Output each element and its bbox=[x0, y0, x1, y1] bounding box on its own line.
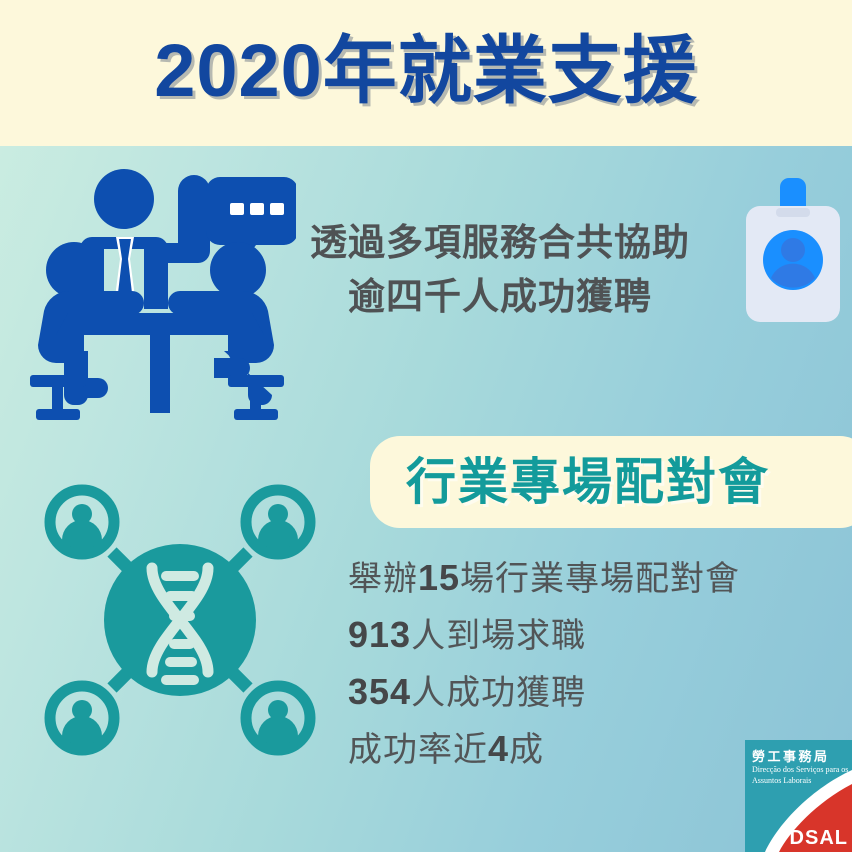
dsal-portuguese-line-1: Direcção dos Serviços para os bbox=[752, 765, 850, 776]
top-description: 透過多項服務合共協助 逾四千人成功獲聘 bbox=[278, 216, 722, 323]
section-banner: 行業專場配對會 bbox=[370, 436, 852, 528]
dsal-chinese-name: 勞工事務局 bbox=[752, 746, 830, 765]
top-description-line-2: 逾四千人成功獲聘 bbox=[278, 270, 722, 324]
stat-number: 913 bbox=[348, 614, 411, 655]
section-title: 行業專場配對會 bbox=[406, 457, 770, 507]
job-interview-icon bbox=[24, 163, 296, 425]
stat-number: 15 bbox=[418, 557, 460, 598]
id-badge-icon bbox=[740, 176, 846, 326]
stat-number: 4 bbox=[488, 728, 509, 769]
stat-prefix: 舉辦 bbox=[348, 560, 418, 598]
stat-suffix: 成 bbox=[509, 731, 544, 769]
stat-suffix: 人到場求職 bbox=[411, 617, 586, 655]
dsal-portuguese-line-2: Assuntos Laborais bbox=[752, 776, 850, 787]
stat-row: 913人到場求職 bbox=[348, 617, 818, 653]
stat-number: 354 bbox=[348, 671, 411, 712]
stat-row: 舉辦15場行業專場配對會 bbox=[348, 560, 818, 596]
page-title: 2020年就業支援 bbox=[154, 34, 698, 108]
dsal-portuguese-name: Direcção dos Serviços para os Assuntos L… bbox=[752, 765, 850, 787]
poster-canvas: 2020年就業支援 bbox=[0, 0, 852, 852]
stat-row: 354人成功獲聘 bbox=[348, 674, 818, 710]
stat-suffix: 人成功獲聘 bbox=[411, 674, 586, 712]
stat-suffix: 場行業專場配對會 bbox=[460, 560, 740, 598]
top-description-line-1: 透過多項服務合共協助 bbox=[278, 216, 722, 270]
dsal-acronym: DSAL bbox=[790, 827, 848, 850]
header-banner: 2020年就業支援 bbox=[0, 0, 852, 146]
stat-prefix: 成功率近 bbox=[348, 731, 488, 769]
dna-network-icon bbox=[34, 474, 326, 766]
dsal-logo: 勞工事務局 Direcção dos Serviços para os Assu… bbox=[745, 740, 852, 852]
